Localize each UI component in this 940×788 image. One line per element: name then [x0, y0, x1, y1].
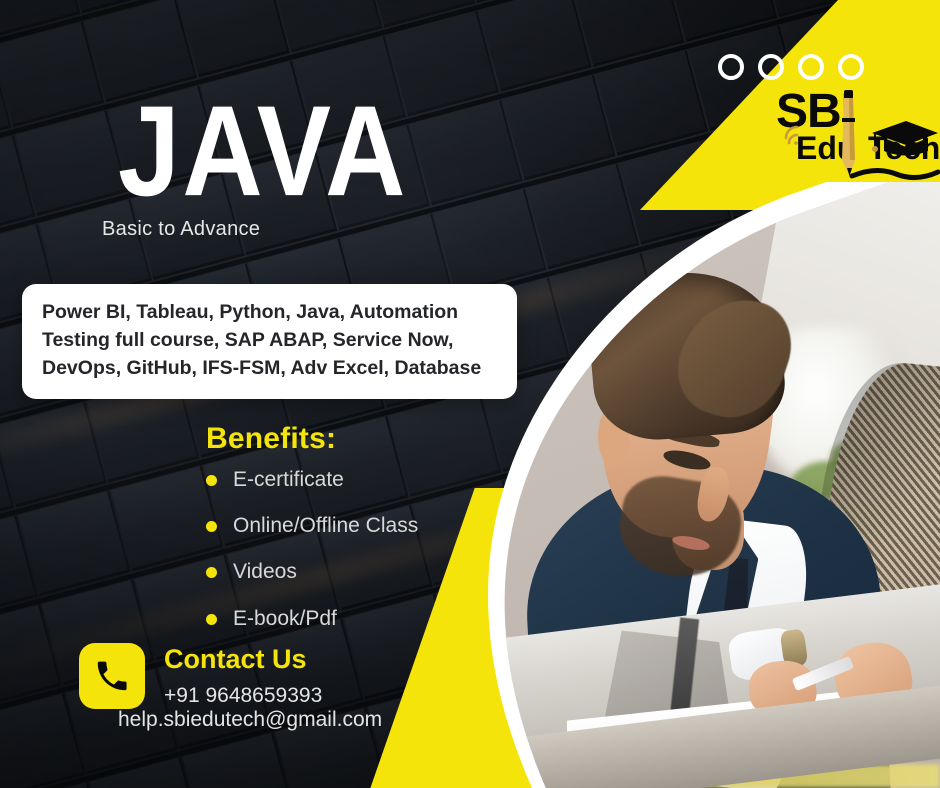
- contact-phone[interactable]: +91 9648659393: [164, 684, 322, 708]
- benefit-item: Videos: [206, 560, 297, 584]
- bullet-dot-icon: [206, 521, 217, 532]
- contact-email[interactable]: help.sbiedutech@gmail.com: [118, 708, 382, 732]
- poster-canvas: JAVA Basic to Advance Power BI, Tableau,…: [0, 0, 940, 788]
- course-list-text: Power BI, Tableau, Python, Java, Automat…: [42, 299, 497, 383]
- benefit-label: E-book/Pdf: [233, 607, 337, 631]
- benefit-label: Videos: [233, 560, 297, 584]
- bullet-dot-icon: [206, 475, 217, 486]
- circle-outline-icon: [758, 54, 784, 80]
- benefit-item: E-book/Pdf: [206, 607, 337, 631]
- logo-graphics: [772, 88, 940, 186]
- bullet-dot-icon: [206, 614, 217, 625]
- benefits-heading: Benefits:: [206, 422, 336, 456]
- course-list-box: Power BI, Tableau, Python, Java, Automat…: [22, 284, 517, 399]
- wifi-arc-icon: [786, 127, 798, 145]
- page-subtitle: Basic to Advance: [102, 218, 260, 241]
- bullet-dot-icon: [206, 567, 217, 578]
- circle-outline-icon: [798, 54, 824, 80]
- graduation-cap-icon: [872, 121, 938, 156]
- circle-outline-icon: [718, 54, 744, 80]
- benefit-label: Online/Offline Class: [233, 514, 418, 538]
- hero-photo: [462, 182, 940, 788]
- benefit-item: Online/Offline Class: [206, 514, 418, 538]
- logo-swoosh: [852, 170, 938, 177]
- brand-logo: SBI Edu Tech: [772, 88, 940, 186]
- phone-icon: [93, 657, 131, 695]
- benefit-item: E-certificate: [206, 468, 344, 492]
- benefit-label: E-certificate: [233, 468, 344, 492]
- pen-icon: [842, 90, 855, 176]
- decorative-dots: [718, 54, 864, 80]
- phone-badge[interactable]: [79, 643, 145, 709]
- photo-clip: [462, 182, 940, 788]
- circle-outline-icon: [838, 54, 864, 80]
- contact-heading: Contact Us: [164, 644, 307, 675]
- page-title: JAVA: [118, 100, 408, 205]
